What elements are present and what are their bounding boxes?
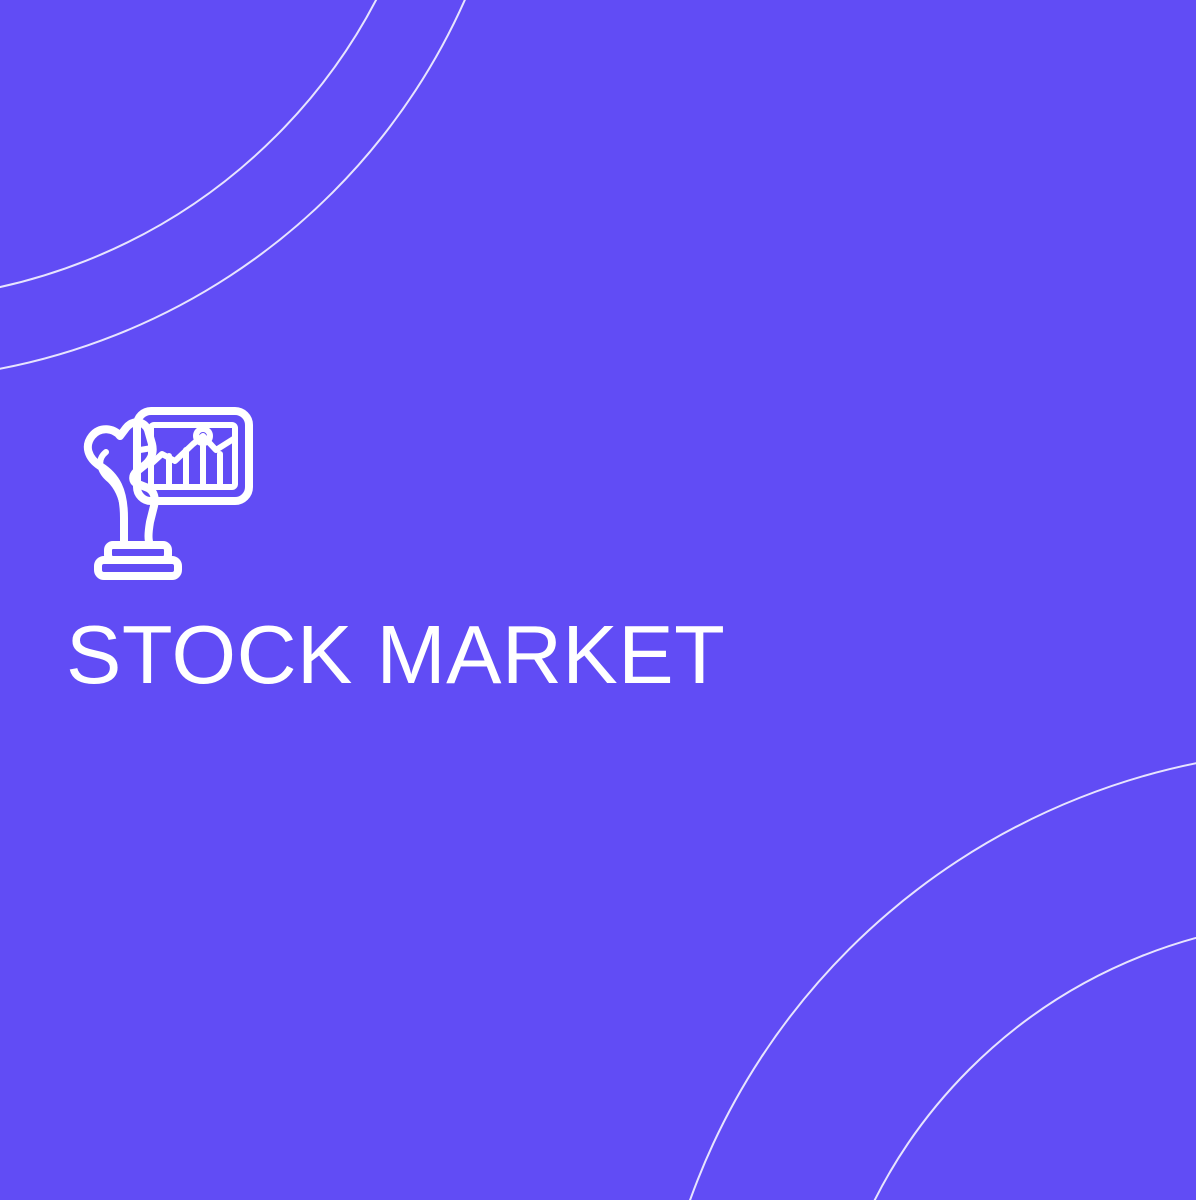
top-left-outer-arc <box>0 0 520 380</box>
chess-knight-icon <box>88 422 155 545</box>
decorative-arcs-layer <box>0 0 1196 1200</box>
stock-market-title-card: STOCK MARKET <box>0 0 1196 1200</box>
bottom-right-inner-arc <box>820 920 1196 1200</box>
chart-bars-icon <box>169 446 220 487</box>
knight-base-plinth-icon <box>98 560 178 576</box>
bottom-right-outer-arc <box>650 750 1196 1200</box>
knight-snout-icon <box>140 448 152 450</box>
icon-artwork <box>62 398 262 588</box>
chess-knight-with-stock-chart-tablet-icon <box>62 398 262 588</box>
top-left-inner-arc <box>0 0 440 300</box>
page-title: STOCK MARKET <box>66 613 725 696</box>
